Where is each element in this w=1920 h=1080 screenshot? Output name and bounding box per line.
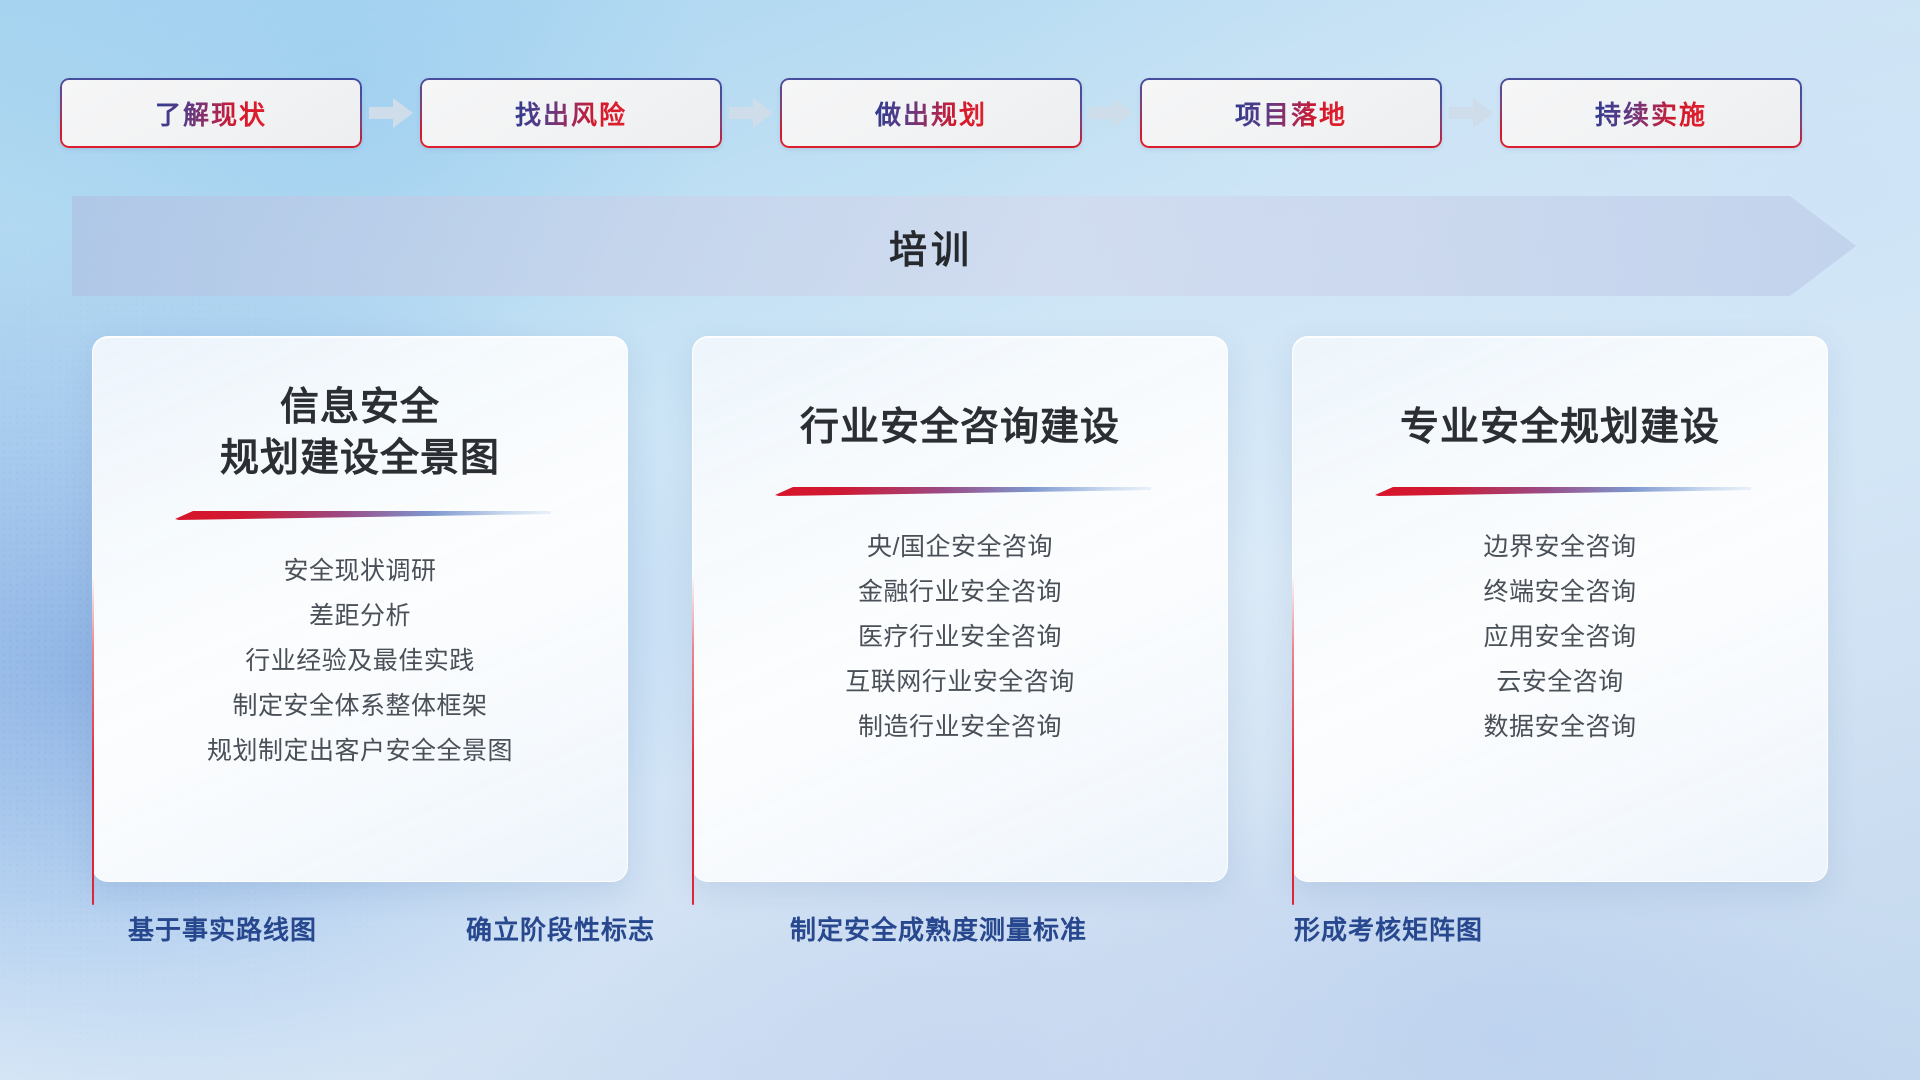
- caption-3: 制定安全成熟度测量标准: [790, 910, 1087, 947]
- card-1-list: 安全现状调研 差距分析 行业经验及最佳实践 制定安全体系整体框架 规划制定出客户…: [207, 549, 513, 774]
- card-3-divider-icon: [1369, 486, 1751, 497]
- card-2-title: 行业安全咨询建设: [800, 403, 1120, 454]
- card-2-list-item: 制造行业安全咨询: [858, 705, 1062, 750]
- step-chip-4-label: 项目落地: [1235, 95, 1347, 132]
- card-3-list-item: 数据安全咨询: [1483, 705, 1636, 750]
- banner-title: 培训: [72, 196, 1790, 296]
- step-arrow-icon-2: [729, 98, 773, 128]
- step-chip-1[interactable]: 了解现状: [60, 78, 362, 148]
- step-chip-1-label: 了解现状: [155, 95, 267, 132]
- card-1-list-item: 行业经验及最佳实践: [245, 639, 475, 684]
- card-2-list-item: 央/国企安全咨询: [867, 525, 1053, 570]
- card-2-list-item: 医疗行业安全咨询: [858, 615, 1062, 660]
- card-3-list-item: 应用安全咨询: [1483, 615, 1636, 660]
- card-3-list-item: 终端安全咨询: [1483, 570, 1636, 615]
- training-banner: 培训: [72, 196, 1856, 296]
- card-row: 信息安全 规划建设全景图: [0, 336, 1920, 892]
- card-1-list-item: 规划制定出客户安全全景图: [207, 729, 513, 774]
- step-chip-3-label: 做出规划: [875, 95, 987, 132]
- card-3[interactable]: 专业安全规划建设: [1292, 336, 1828, 882]
- card-1-title: 信息安全 规划建设全景图: [220, 383, 500, 484]
- card-1-divider-icon: [169, 510, 551, 521]
- card-1-list-item: 差距分析: [309, 594, 411, 639]
- step-chip-2-label: 找出风险: [515, 95, 627, 132]
- card-1[interactable]: 信息安全 规划建设全景图: [92, 336, 628, 882]
- caption-2: 确立阶段性标志: [466, 910, 655, 947]
- card-1-list-item: 安全现状调研: [283, 549, 436, 594]
- step-arrow-icon-4: [1449, 98, 1493, 128]
- card-3-list-item: 云安全咨询: [1496, 660, 1624, 705]
- step-chip-4[interactable]: 项目落地: [1140, 78, 1442, 148]
- process-step-row: 了解现状 找出风险 做出规划 项目落地: [0, 72, 1920, 154]
- card-3-list: 边界安全咨询 终端安全咨询 应用安全咨询 云安全咨询 数据安全咨询: [1483, 525, 1636, 750]
- step-chip-5[interactable]: 持续实施: [1500, 78, 1802, 148]
- step-arrow-icon-1: [369, 98, 413, 128]
- card-2-list-item: 金融行业安全咨询: [858, 570, 1062, 615]
- step-chip-3[interactable]: 做出规划: [780, 78, 1082, 148]
- caption-1: 基于事实路线图: [128, 910, 317, 947]
- card-3-title: 专业安全规划建设: [1400, 403, 1720, 454]
- card-1-list-item: 制定安全体系整体框架: [232, 684, 487, 729]
- step-arrow-icon-3: [1089, 98, 1133, 128]
- card-3-list-item: 边界安全咨询: [1483, 525, 1636, 570]
- step-chip-2[interactable]: 找出风险: [420, 78, 722, 148]
- card-2-divider-icon: [769, 486, 1151, 497]
- card-2-list: 央/国企安全咨询 金融行业安全咨询 医疗行业安全咨询 互联网行业安全咨询 制造行…: [845, 525, 1075, 750]
- card-2[interactable]: 行业安全咨询建设: [692, 336, 1228, 882]
- step-chip-5-label: 持续实施: [1595, 95, 1707, 132]
- card-2-list-item: 互联网行业安全咨询: [845, 660, 1075, 705]
- caption-4: 形成考核矩阵图: [1294, 910, 1483, 947]
- caption-row: 基于事实路线图 确立阶段性标志 制定安全成熟度测量标准 形成考核矩阵图: [0, 910, 1920, 970]
